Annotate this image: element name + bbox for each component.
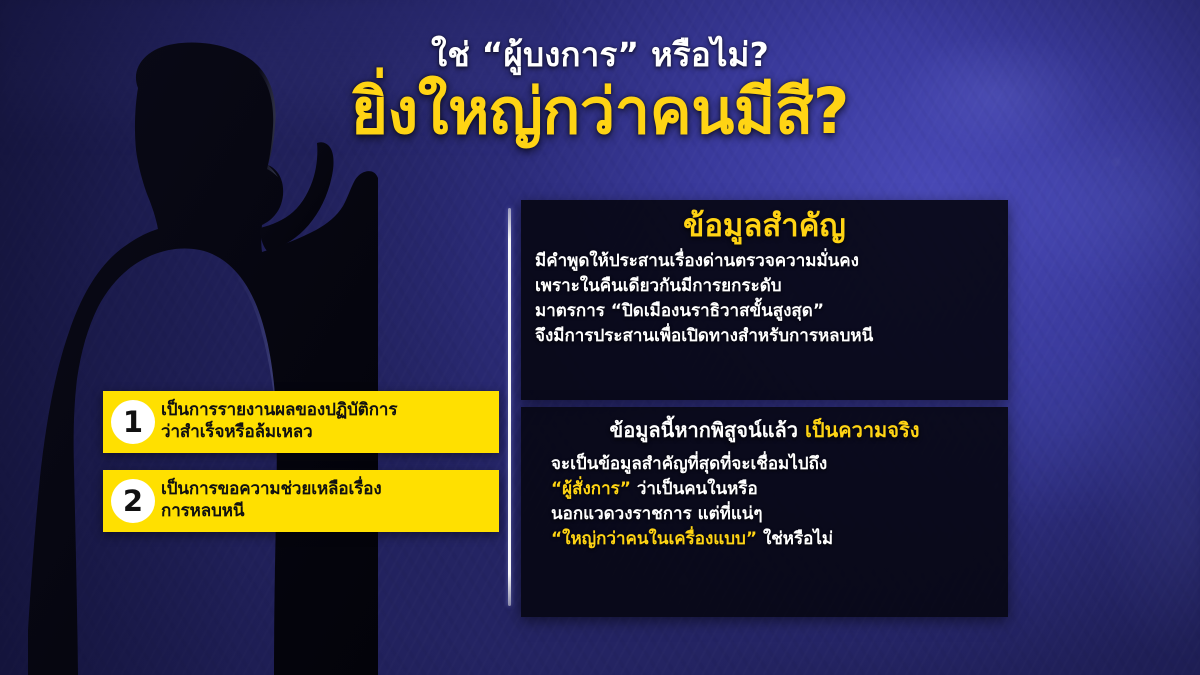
number-badge: 2 bbox=[111, 479, 155, 523]
key-info-line-3: มาตรการ “ปิดเมืองนราธิวาสขั้นสูงสุด” bbox=[535, 299, 994, 324]
key-info-line-4: จึงมีการประสานเพื่อเปิดทางสำหรับการหลบหน… bbox=[535, 324, 994, 349]
key-info-line-2: เพราะในคืนเดียวกันมีการยกระดับ bbox=[535, 274, 994, 299]
verification-line-2-text: ว่าเป็นคนในหรือ bbox=[637, 479, 758, 499]
verification-line-1: จะเป็นข้อมูลสำคัญที่สุดที่จะเชื่อมไปถึง bbox=[535, 452, 994, 477]
verification-line-4-text: ใช่หรือไม่ bbox=[763, 529, 833, 549]
list-item-line-2: ว่าสำเร็จหรือล้มเหลว bbox=[161, 422, 397, 444]
verification-line-4: “ใหญ่กว่าคนในเครื่องแบบ” ใช่หรือไม่ bbox=[535, 527, 994, 552]
list-item-text: เป็นการรายงานผลของปฏิบัติการ ว่าสำเร็จหร… bbox=[161, 400, 397, 444]
verification-subheading: ข้อมูลนี้หากพิสูจน์แล้ว เป็นความจริง bbox=[535, 417, 994, 443]
vertical-divider bbox=[508, 208, 511, 606]
key-info-line-1: มีคำพูดให้ประสานเรื่องด่านตรวจความมั่นคง bbox=[535, 249, 994, 274]
verification-panel: ข้อมูลนี้หากพิสูจน์แล้ว เป็นความจริง จะเ… bbox=[521, 407, 1008, 617]
list-item-text: เป็นการขอความช่วยเหลือเรื่อง การหลบหนี bbox=[161, 479, 382, 523]
news-graphic-canvas: ใช่ “ผู้บงการ” หรือไม่? ยิ่งใหญ่กว่าคนมี… bbox=[0, 0, 1200, 675]
verification-subheading-highlight: เป็นความจริง bbox=[805, 418, 919, 442]
key-information-body: มีคำพูดให้ประสานเรื่องด่านตรวจความมั่นคง… bbox=[535, 249, 994, 349]
verification-line-3: นอกแวดวงราชการ แต่ที่แน่ๆ bbox=[535, 502, 994, 527]
verification-line-2-highlight: “ผู้สั่งการ” bbox=[551, 479, 631, 499]
list-item: 1 เป็นการรายงานผลของปฏิบัติการ ว่าสำเร็จ… bbox=[103, 391, 499, 453]
panel-title-key-information: ข้อมูลสำคัญ bbox=[535, 208, 994, 245]
list-item-line-1: เป็นการรายงานผลของปฏิบัติการ bbox=[161, 400, 397, 422]
verification-line-4-highlight: “ใหญ่กว่าคนในเครื่องแบบ” bbox=[551, 529, 757, 549]
list-item: 2 เป็นการขอความช่วยเหลือเรื่อง การหลบหนี bbox=[103, 470, 499, 532]
man-on-phone-silhouette bbox=[28, 22, 378, 675]
verification-line-2: “ผู้สั่งการ” ว่าเป็นคนในหรือ bbox=[535, 477, 994, 502]
key-information-panel: ข้อมูลสำคัญ มีคำพูดให้ประสานเรื่องด่านตร… bbox=[521, 200, 1008, 400]
verification-subheading-white: ข้อมูลนี้หากพิสูจน์แล้ว bbox=[610, 418, 798, 442]
list-item-line-1: เป็นการขอความช่วยเหลือเรื่อง bbox=[161, 479, 382, 501]
verification-body: จะเป็นข้อมูลสำคัญที่สุดที่จะเชื่อมไปถึง … bbox=[535, 452, 994, 552]
list-item-line-2: การหลบหนี bbox=[161, 501, 382, 523]
number-badge: 1 bbox=[111, 400, 155, 444]
